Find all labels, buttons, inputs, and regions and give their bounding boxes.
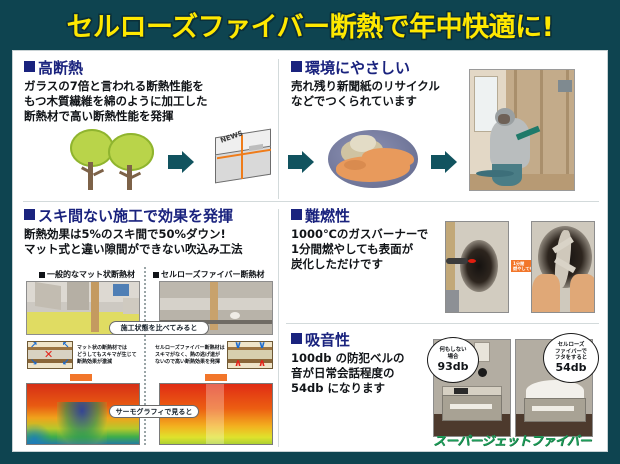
installation-photo <box>469 69 575 191</box>
flame-body: 1000℃のガスバーナーで 1分間燃やしても表面が 炭化しただけです <box>291 227 428 273</box>
sound-badge-covered: セルローズ ファイバーで フタをすると 54db <box>543 333 599 383</box>
section-sound: 吸音性 100db の防犯ベルの 音が日常会話程度の 54db になります <box>291 333 404 397</box>
section-gapless: スキ間ない施工で効果を発揮 断熱効果は5%のスキ間で50%ダウン! マット式と違… <box>24 209 243 257</box>
compare-left-heading-text: 一般的なマット状断熱材 <box>47 269 135 280</box>
sound-body-line-3: 54db になります <box>291 381 404 396</box>
gapless-body-line-2: マット式と違い隙間ができない吹込み工法 <box>24 242 243 257</box>
sound-badge-covered-line-1: セルローズ <box>558 342 585 349</box>
divider-horizontal-right <box>286 323 599 324</box>
compare-right-heading: セルローズファイバー断熱材 <box>153 269 264 280</box>
flame-heading: 難燃性 <box>291 209 428 224</box>
page-title: セルローズファイバー断熱で年中快適に! <box>67 5 554 44</box>
sound-badge-open: 何もしない 場合 93db <box>427 337 479 383</box>
gap-note-cellulose-line-1: セルローズファイバー断熱材は <box>155 345 225 352</box>
brand-logo: スーパージェットファイバー <box>433 430 591 449</box>
trees-illustration <box>68 129 158 191</box>
gapless-heading: スキ間ない施工で効果を発揮 <box>24 209 243 224</box>
title-banner: セルローズファイバー断熱で年中快適に! <box>0 0 620 48</box>
divider-vertical-bottom <box>278 209 279 447</box>
orange-connector-left <box>70 374 92 381</box>
section-flame: 難燃性 1000℃のガスバーナーで 1分間燃やしても表面が 炭化しただけです <box>291 209 428 273</box>
square-bullet-icon <box>291 333 302 344</box>
sound-body: 100db の防犯ベルの 音が日常会話程度の 54db になります <box>291 351 404 397</box>
compare-left-heading: 一般的なマット状断熱材 <box>39 269 135 280</box>
square-bullet-icon <box>24 209 35 220</box>
divider-horizontal-top <box>23 201 599 202</box>
gap-diagram-mat: ↗ ↖ ✕ ↘ ↙ <box>27 341 73 369</box>
gap-note-mat-line-1: マット状の断熱材では <box>77 345 137 352</box>
insulation-body-line-3: 断熱材で高い断熱性能を発揮 <box>24 109 208 124</box>
sound-heading: 吸音性 <box>291 333 404 348</box>
square-bullet-icon <box>39 272 45 278</box>
gap-note-cellulose-line-2: スキマがなく、熱の逃げ道が <box>155 352 225 359</box>
insulation-heading-text: 高断熱 <box>38 61 83 76</box>
insulation-heading: 高断熱 <box>24 61 208 76</box>
square-bullet-icon <box>24 61 35 72</box>
eco-body-line-1: 売れ残り新聞紙のリサイクル <box>291 79 440 94</box>
section-insulation: 高断熱 ガラスの7倍と言われる断熱性能を もつ木質繊維を綿のように加工した 断熱… <box>24 61 208 125</box>
sound-badge-open-value: 93db <box>437 361 468 373</box>
eco-body-line-2: などでつくられています <box>291 94 440 109</box>
gap-note-mat-line-3: 断熱効果が激減 <box>77 359 137 366</box>
gap-note-cellulose-line-3: ないので高い断熱効果を発揮 <box>155 359 225 366</box>
ribbon-compare-construction: 施工状態を比べてみると <box>109 321 209 335</box>
newspaper-bundle-illustration: NEWS <box>211 127 277 189</box>
sound-badge-covered-value: 54db <box>555 362 586 374</box>
ribbon-thermography: サーモグラフィで見ると <box>109 405 199 418</box>
sound-body-line-1: 100db の防犯ベルの <box>291 351 404 366</box>
eco-heading: 環境にやさしい <box>291 61 440 76</box>
flame-body-line-2: 1分間燃やしても表面が <box>291 242 428 257</box>
compare-right-heading-text: セルローズファイバー断熱材 <box>161 269 264 280</box>
insulation-body-line-1: ガラスの7倍と言われる断熱性能を <box>24 79 208 94</box>
insulation-body-line-2: もつ木質繊維を綿のように加工した <box>24 94 208 109</box>
flame-heading-text: 難燃性 <box>305 209 350 224</box>
flame-body-line-1: 1000℃のガスバーナーで <box>291 227 428 242</box>
burn-photo-before <box>445 221 509 313</box>
hands-fiber-illustration <box>328 130 418 188</box>
gapless-body: 断熱効果は5%のスキ間で50%ダウン! マット式と違い隙間ができない吹込み工法 <box>24 227 243 257</box>
gap-note-mat-line-2: どうしてもスキマが生じて <box>77 352 137 359</box>
compare-dotted-divider <box>144 267 146 445</box>
eco-heading-text: 環境にやさしい <box>305 61 410 76</box>
gapless-body-line-1: 断熱効果は5%のスキ間で50%ダウン! <box>24 227 243 242</box>
square-bullet-icon <box>291 61 302 72</box>
gapless-heading-text: スキ間ない施工で効果を発揮 <box>38 209 233 224</box>
sound-badge-open-line-1: 何もしない <box>440 347 467 354</box>
insulation-body: ガラスの7倍と言われる断熱性能を もつ木質繊維を綿のように加工した 断熱材で高い… <box>24 79 208 125</box>
sound-heading-text: 吸音性 <box>305 333 350 348</box>
square-bullet-icon <box>291 209 302 220</box>
burn-photo-after <box>531 221 595 313</box>
section-eco: 環境にやさしい 売れ残り新聞紙のリサイクル などでつくられています <box>291 61 440 109</box>
gap-note-cellulose: セルローズファイバー断熱材は スキマがなく、熱の逃げ道が ないので高い断熱効果を… <box>155 345 225 365</box>
advertisement-page: セルローズファイバー断熱で年中快適に! 高断熱 ガラスの7倍と言われる断熱性能を… <box>0 0 620 464</box>
orange-connector-right <box>205 374 227 381</box>
flame-body-line-3: 炭化しただけです <box>291 257 428 272</box>
divider-vertical-top <box>278 59 279 199</box>
eco-body: 売れ残り新聞紙のリサイクル などでつくられています <box>291 79 440 109</box>
gap-note-mat: マット状の断熱材では どうしてもスキマが生じて 断熱効果が激減 <box>77 345 137 365</box>
content-panel: 高断熱 ガラスの7倍と言われる断熱性能を もつ木質繊維を綿のように加工した 断熱… <box>12 50 608 452</box>
sound-body-line-2: 音が日常会話程度の <box>291 366 404 381</box>
square-bullet-icon <box>153 272 159 278</box>
gap-diagram-cellulose: ∨ ∨ ∧ ∧ <box>227 341 273 369</box>
